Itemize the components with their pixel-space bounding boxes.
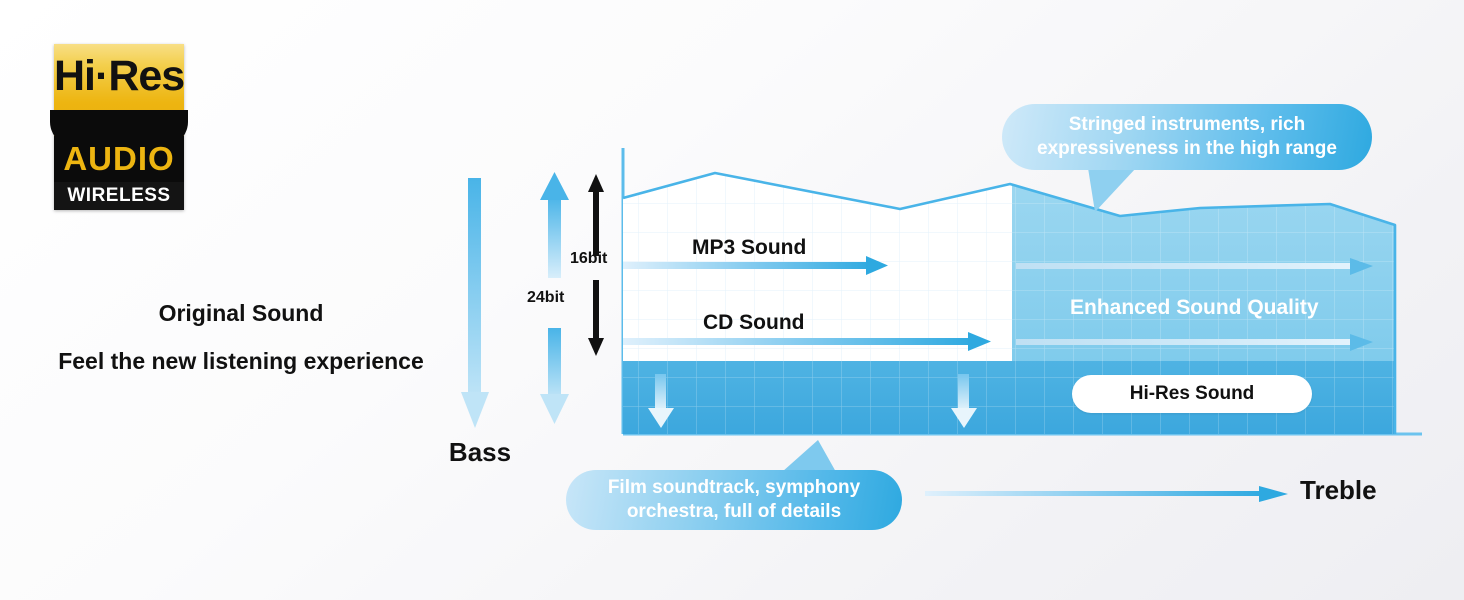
callout-low-range: Film soundtrack, symphony orchestra, ful…: [566, 470, 902, 530]
hi-res-sound-badge: Hi-Res Sound: [1072, 375, 1312, 413]
treble-arrow: [925, 486, 1288, 502]
bass-axis-label: Bass: [400, 437, 560, 468]
cd-sound-label: CD Sound: [703, 311, 804, 335]
treble-axis-label: Treble: [1300, 475, 1377, 506]
bass-arrow: [461, 178, 489, 428]
callout-high-range: Stringed instruments, rich expressivenes…: [1002, 104, 1372, 170]
mp3-sound-label: MP3 Sound: [692, 236, 806, 260]
16bit-label: 16bit: [570, 250, 607, 268]
24bit-label: 24bit: [527, 289, 564, 307]
callout-bottom-tail: [782, 440, 836, 472]
callout-top-tail: [1088, 168, 1136, 212]
infographic-canvas: Hi·Res AUDIO WIRELESS Original Sound Fee…: [0, 0, 1464, 600]
enhanced-sound-quality-label: Enhanced Sound Quality: [1070, 296, 1319, 320]
